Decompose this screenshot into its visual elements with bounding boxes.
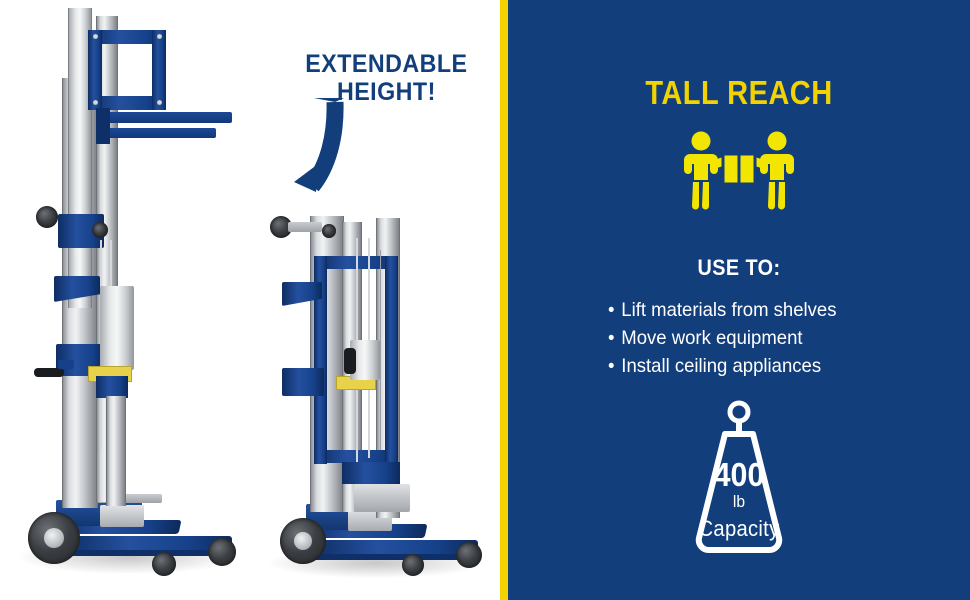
capacity-unit: lb [673, 492, 805, 512]
mast-bracket-lower-2 [282, 368, 324, 396]
capacity-number: 400 [673, 456, 805, 494]
callout-line-1: EXTENDABLE [305, 50, 468, 78]
winch-crank-arm [58, 360, 74, 369]
promo-banner: EXTENDABLE HEIGHT! TALL REACH [0, 0, 970, 600]
list-item: •Install ceiling appliances [608, 352, 912, 380]
capacity-badge: 400 lb Capacity [667, 400, 811, 555]
caster-front-right-2 [456, 542, 482, 568]
lower-plate-2 [354, 484, 410, 512]
list-item: •Lift materials from shelves [608, 296, 912, 324]
top-pulley-secondary-2 [322, 224, 336, 238]
bullet-dot: • [608, 324, 621, 352]
base-plate [100, 505, 144, 527]
list-item-label: Install ceiling appliances [621, 355, 821, 377]
carriage-bolt-2 [157, 34, 162, 39]
caster-front-left-2 [402, 554, 424, 576]
fork-upper [104, 112, 232, 123]
carriage-frame-right-2 [385, 256, 398, 464]
carriage-bolt-3 [93, 100, 98, 105]
caster-front-right [208, 538, 236, 566]
rear-wheel-hub-2 [294, 532, 312, 550]
lower-body-frame-2 [342, 462, 400, 484]
lower-body-frame [96, 376, 128, 398]
top-pulley-secondary [92, 222, 108, 238]
carriage-frame-left [88, 30, 102, 110]
capacity-word: Capacity [673, 516, 805, 542]
product-image-extended [0, 0, 260, 600]
curved-arrow-icon [240, 96, 350, 196]
panel-title: TALL REACH [536, 74, 943, 112]
vertical-divider [500, 0, 508, 600]
carriage-bolt-1 [93, 34, 98, 39]
list-item-label: Move work equipment [621, 327, 802, 349]
product-photo-panel: EXTENDABLE HEIGHT! [0, 0, 500, 600]
fork-lower [104, 128, 216, 138]
use-to-label: USE TO: [531, 255, 947, 281]
top-pulley [36, 206, 58, 228]
winch-handle-grip-2 [344, 348, 356, 374]
carriage-bolt-4 [157, 100, 162, 105]
base-leg-front-shadow [60, 550, 232, 556]
info-panel: TALL REACH USE T [508, 0, 970, 600]
inner-cylinder [100, 286, 134, 370]
list-item-label: Lift materials from shelves [621, 299, 836, 321]
bullet-dot: • [608, 352, 621, 380]
rear-wheel-hub [44, 528, 64, 548]
bullet-dot: • [608, 296, 621, 324]
two-people-carrying-box-icon [681, 130, 797, 210]
mast-lower-extension [106, 396, 126, 506]
lift-cable-3-2 [380, 250, 381, 450]
pulley-arm-2 [288, 222, 322, 232]
list-item: •Move work equipment [608, 324, 912, 352]
use-to-list: •Lift materials from shelves •Move work … [608, 296, 928, 380]
winch-handle-grip [34, 368, 64, 377]
carriage-frame-right [152, 30, 166, 110]
caster-front-left [152, 552, 176, 576]
fork-bracket [96, 108, 110, 144]
base-leg-front-shadow-2 [310, 554, 478, 560]
